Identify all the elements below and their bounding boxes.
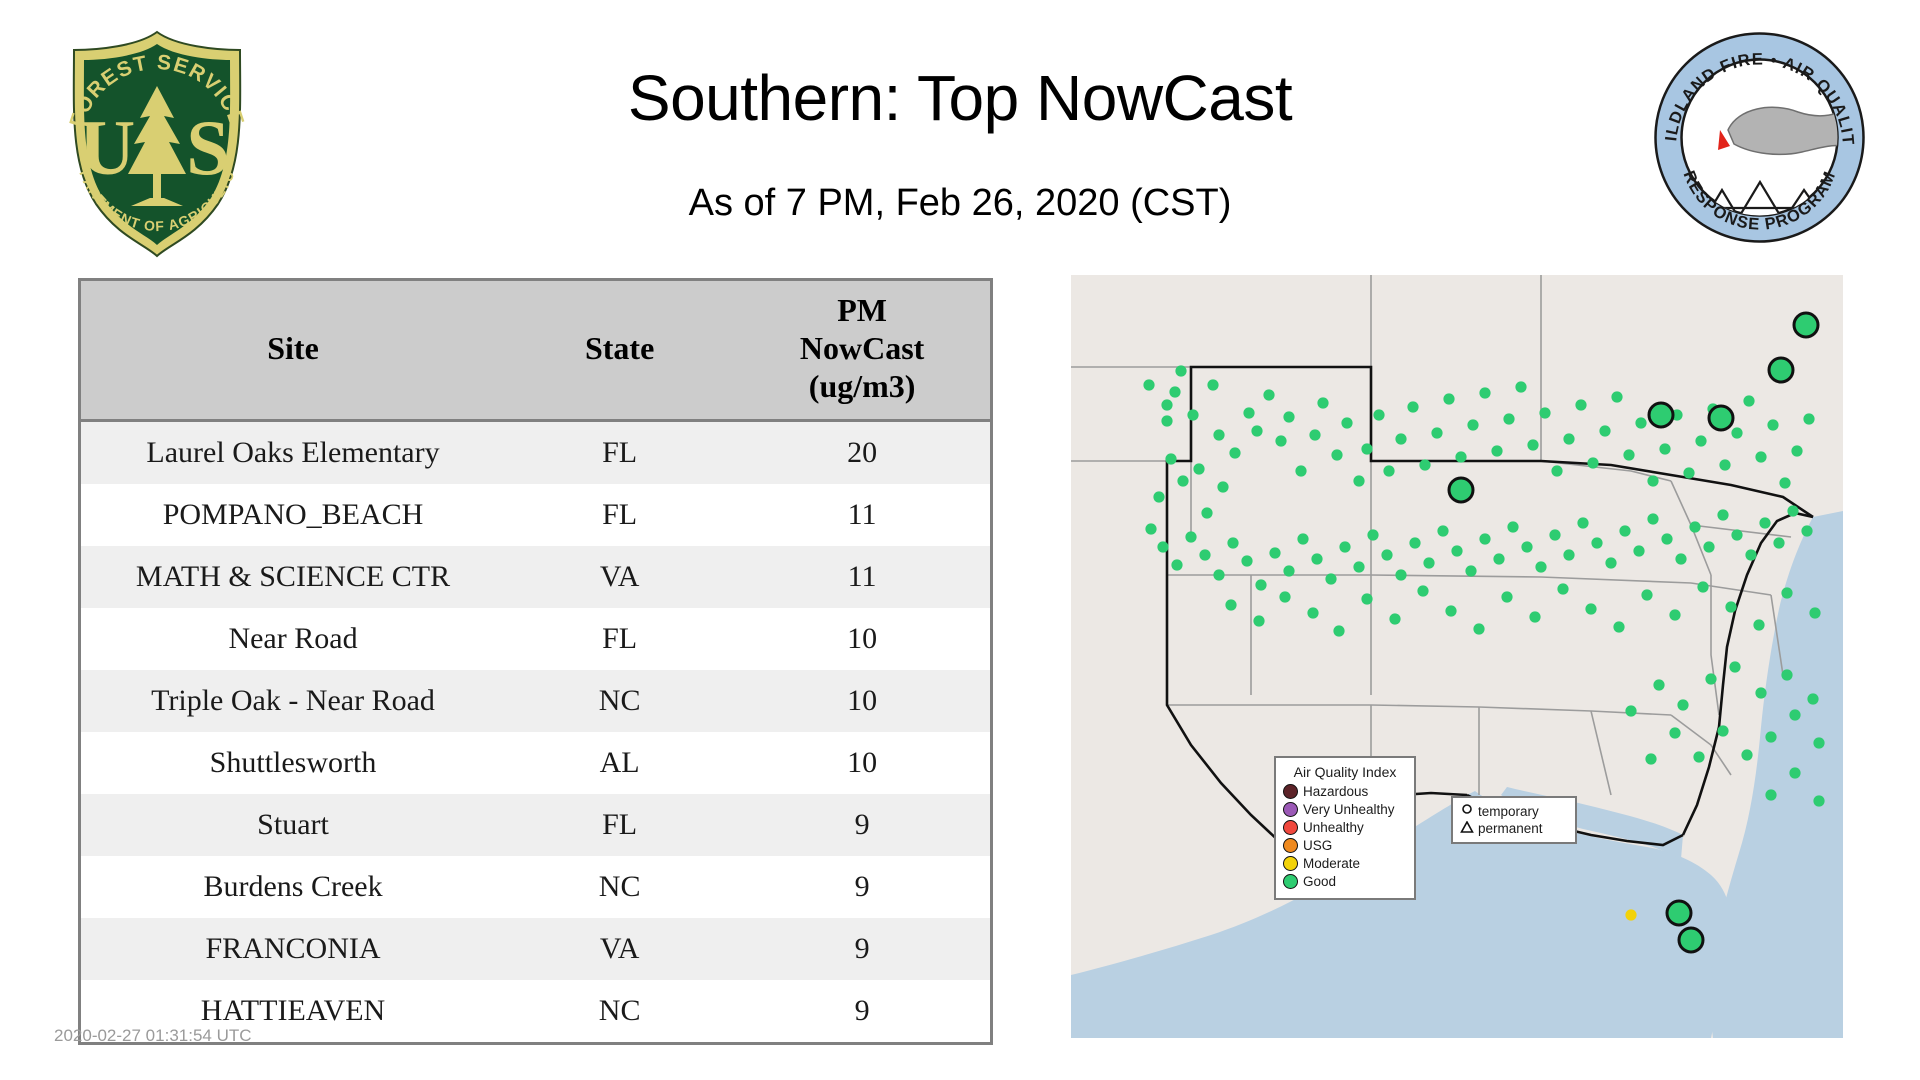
aqi-legend-label: Moderate <box>1303 855 1360 872</box>
cell-site: POMPANO_BEACH <box>80 484 506 546</box>
monitor-marker[interactable] <box>1193 463 1204 474</box>
monitor-marker[interactable] <box>1389 613 1400 624</box>
monitor-marker[interactable] <box>1587 457 1598 468</box>
monitor-marker[interactable] <box>1745 549 1756 560</box>
wfaqrp-program-logo: WILDLAND FIRE • AIR QUALITY RESPONSE PRO… <box>1652 30 1867 245</box>
aqi-legend-swatch-icon <box>1283 802 1298 817</box>
monitor-marker[interactable] <box>1373 409 1384 420</box>
monitor-marker[interactable] <box>1619 525 1630 536</box>
cell-pm-nowcast: 10 <box>734 670 991 732</box>
highlighted-monitor-marker[interactable] <box>1667 901 1691 925</box>
monitor-marker[interactable] <box>1529 611 1540 622</box>
cell-pm-nowcast: 20 <box>734 421 991 485</box>
page-title: Southern: Top NowCast <box>360 60 1560 136</box>
monitor-marker[interactable] <box>1431 427 1442 438</box>
temporary-site-circle-icon <box>1459 804 1475 819</box>
monitor-marker[interactable] <box>1753 619 1764 630</box>
column-header-pm-line2: NowCast <box>800 330 924 366</box>
aqi-legend-label: Good <box>1303 873 1336 890</box>
monitor-marker[interactable] <box>1591 537 1602 548</box>
table-row: Triple Oak - Near RoadNC10 <box>80 670 992 732</box>
monitor-marker[interactable] <box>1803 413 1814 424</box>
monitor-marker[interactable] <box>1625 909 1636 920</box>
monitor-marker[interactable] <box>1153 491 1164 502</box>
monitor-marker[interactable] <box>1539 407 1550 418</box>
table-row: Laurel Oaks ElementaryFL20 <box>80 421 992 485</box>
table-row: ShuttlesworthAL10 <box>80 732 992 794</box>
aqi-legend-item: Moderate <box>1283 855 1407 872</box>
monitor-marker[interactable] <box>1311 553 1322 564</box>
monitor-marker[interactable] <box>1659 443 1670 454</box>
column-header-state: State <box>505 280 734 421</box>
cell-pm-nowcast: 10 <box>734 608 991 670</box>
monitor-marker[interactable] <box>1625 705 1636 716</box>
cell-pm-nowcast: 11 <box>734 546 991 608</box>
monitor-marker[interactable] <box>1395 569 1406 580</box>
monitor-map[interactable]: Air Quality Index HazardousVery Unhealth… <box>1071 275 1843 1038</box>
monitor-marker[interactable] <box>1773 537 1784 548</box>
aqi-legend-title: Air Quality Index <box>1283 764 1407 780</box>
monitor-marker[interactable] <box>1283 565 1294 576</box>
monitor-marker[interactable] <box>1229 447 1240 458</box>
monitor-marker[interactable] <box>1705 673 1716 684</box>
site-type-legend-item-temporary: temporary <box>1459 803 1569 820</box>
monitor-marker[interactable] <box>1213 429 1224 440</box>
monitor-marker[interactable] <box>1297 533 1308 544</box>
monitor-marker[interactable] <box>1623 449 1634 460</box>
table-header-row: Site State PM NowCast (ug/m3) <box>80 280 992 421</box>
monitor-marker[interactable] <box>1689 521 1700 532</box>
cell-state: FL <box>505 484 734 546</box>
monitor-marker[interactable] <box>1611 391 1622 402</box>
site-type-legend-label-permanent: permanent <box>1478 820 1543 837</box>
monitor-marker[interactable] <box>1787 505 1798 516</box>
monitor-marker[interactable] <box>1647 475 1658 486</box>
monitor-marker[interactable] <box>1549 529 1560 540</box>
monitor-marker[interactable] <box>1361 593 1372 604</box>
monitor-marker[interactable] <box>1207 379 1218 390</box>
monitor-marker[interactable] <box>1807 693 1818 704</box>
aqi-legend-label: Unhealthy <box>1303 819 1364 836</box>
cell-pm-nowcast: 10 <box>734 732 991 794</box>
cell-site: Burdens Creek <box>80 856 506 918</box>
monitor-marker[interactable] <box>1503 413 1514 424</box>
monitor-marker[interactable] <box>1779 477 1790 488</box>
monitor-marker[interactable] <box>1647 513 1658 524</box>
usfs-letter-s: S <box>186 104 229 191</box>
monitor-marker[interactable] <box>1535 561 1546 572</box>
monitor-marker[interactable] <box>1791 445 1802 456</box>
monitor-marker[interactable] <box>1759 517 1770 528</box>
monitor-marker[interactable] <box>1755 687 1766 698</box>
monitor-marker[interactable] <box>1165 453 1176 464</box>
monitor-marker[interactable] <box>1309 429 1320 440</box>
monitor-marker[interactable] <box>1781 587 1792 598</box>
monitor-marker[interactable] <box>1725 601 1736 612</box>
aqi-legend-swatch-icon <box>1283 874 1298 889</box>
monitor-marker[interactable] <box>1269 547 1280 558</box>
monitor-marker[interactable] <box>1361 443 1372 454</box>
column-header-site: Site <box>80 280 506 421</box>
monitor-marker[interactable] <box>1653 679 1664 690</box>
monitor-marker[interactable] <box>1633 545 1644 556</box>
monitor-marker[interactable] <box>1765 789 1776 800</box>
monitor-marker[interactable] <box>1801 525 1812 536</box>
cell-state: AL <box>505 732 734 794</box>
monitor-marker[interactable] <box>1575 399 1586 410</box>
monitor-marker[interactable] <box>1467 419 1478 430</box>
monitor-marker[interactable] <box>1253 615 1264 626</box>
monitor-marker[interactable] <box>1331 449 1342 460</box>
site-type-legend-item-permanent: permanent <box>1459 820 1569 837</box>
top-nowcast-table-container: Site State PM NowCast (ug/m3) Laurel Oak… <box>78 278 993 1045</box>
monitor-marker[interactable] <box>1731 427 1742 438</box>
table-row: Burdens CreekNC9 <box>80 856 992 918</box>
monitor-marker[interactable] <box>1263 389 1274 400</box>
table-row: POMPANO_BEACHFL11 <box>80 484 992 546</box>
monitor-marker[interactable] <box>1339 541 1350 552</box>
monitor-marker[interactable] <box>1479 387 1490 398</box>
monitor-marker[interactable] <box>1161 415 1172 426</box>
monitor-marker[interactable] <box>1527 439 1538 450</box>
aqi-legend-item: USG <box>1283 837 1407 854</box>
monitor-marker[interactable] <box>1683 467 1694 478</box>
monitor-marker[interactable] <box>1241 555 1252 566</box>
monitor-marker[interactable] <box>1381 549 1392 560</box>
column-header-pm-nowcast: PM NowCast (ug/m3) <box>734 280 991 421</box>
monitor-marker[interactable] <box>1225 599 1236 610</box>
monitor-marker[interactable] <box>1251 425 1262 436</box>
monitor-marker[interactable] <box>1437 525 1448 536</box>
column-header-pm-line3: (ug/m3) <box>809 368 916 404</box>
monitor-marker[interactable] <box>1585 603 1596 614</box>
monitor-marker[interactable] <box>1171 559 1182 570</box>
usfs-shield-logo: FOREST SERVICE DEPARTMENT OF AGRICULTURE… <box>52 28 262 260</box>
monitor-marker[interactable] <box>1491 445 1502 456</box>
page-subtitle: As of 7 PM, Feb 26, 2020 (CST) <box>360 180 1560 226</box>
monitor-marker[interactable] <box>1755 451 1766 462</box>
monitor-marker[interactable] <box>1605 557 1616 568</box>
table-row: FRANCONIAVA9 <box>80 918 992 980</box>
monitor-marker[interactable] <box>1675 553 1686 564</box>
monitor-marker[interactable] <box>1641 589 1652 600</box>
monitor-marker[interactable] <box>1341 417 1352 428</box>
monitor-marker[interactable] <box>1353 475 1364 486</box>
table-row: MATH & SCIENCE CTRVA11 <box>80 546 992 608</box>
column-header-pm-line1: PM <box>837 292 887 328</box>
monitor-marker[interactable] <box>1367 529 1378 540</box>
monitor-marker[interactable] <box>1563 433 1574 444</box>
aqi-legend-label: USG <box>1303 837 1332 854</box>
monitor-marker[interactable] <box>1217 481 1228 492</box>
cell-state: NC <box>505 856 734 918</box>
monitor-marker[interactable] <box>1789 709 1800 720</box>
monitor-marker[interactable] <box>1161 399 1172 410</box>
monitor-marker[interactable] <box>1283 411 1294 422</box>
monitor-marker[interactable] <box>1661 533 1672 544</box>
monitor-marker[interactable] <box>1383 465 1394 476</box>
monitor-marker[interactable] <box>1455 451 1466 462</box>
monitor-marker[interactable] <box>1635 417 1646 428</box>
monitor-marker[interactable] <box>1781 669 1792 680</box>
monitor-marker[interactable] <box>1395 433 1406 444</box>
monitor-marker[interactable] <box>1185 531 1196 542</box>
cell-site: MATH & SCIENCE CTR <box>80 546 506 608</box>
aqi-legend-item: Very Unhealthy <box>1283 801 1407 818</box>
highlighted-monitor-marker[interactable] <box>1449 478 1473 502</box>
monitor-marker[interactable] <box>1333 625 1344 636</box>
monitor-marker[interactable] <box>1765 731 1776 742</box>
cell-site: Stuart <box>80 794 506 856</box>
aqi-legend-item: Good <box>1283 873 1407 890</box>
monitor-marker[interactable] <box>1417 585 1428 596</box>
monitor-marker[interactable] <box>1729 661 1740 672</box>
monitor-marker[interactable] <box>1255 579 1266 590</box>
table-header: Site State PM NowCast (ug/m3) <box>80 280 992 421</box>
monitor-marker[interactable] <box>1645 753 1656 764</box>
aqi-legend: Air Quality Index HazardousVery Unhealth… <box>1274 756 1416 900</box>
top-nowcast-table: Site State PM NowCast (ug/m3) Laurel Oak… <box>78 278 993 1045</box>
monitor-marker[interactable] <box>1145 523 1156 534</box>
monitor-marker[interactable] <box>1809 607 1820 618</box>
monitor-marker[interactable] <box>1577 517 1588 528</box>
monitor-marker[interactable] <box>1409 537 1420 548</box>
monitor-marker[interactable] <box>1419 459 1430 470</box>
aqi-legend-label: Hazardous <box>1303 783 1368 800</box>
aqi-legend-label: Very Unhealthy <box>1303 801 1395 818</box>
monitor-marker[interactable] <box>1157 541 1168 552</box>
monitor-marker[interactable] <box>1501 591 1512 602</box>
monitor-marker[interactable] <box>1741 749 1752 760</box>
cell-pm-nowcast: 9 <box>734 856 991 918</box>
monitor-marker[interactable] <box>1551 465 1562 476</box>
table-row: StuartFL9 <box>80 794 992 856</box>
monitor-marker[interactable] <box>1443 393 1454 404</box>
highlighted-monitor-marker[interactable] <box>1794 313 1818 337</box>
cell-state: FL <box>505 794 734 856</box>
monitor-marker[interactable] <box>1451 545 1462 556</box>
monitor-marker[interactable] <box>1227 537 1238 548</box>
site-type-legend: temporary permanent <box>1451 796 1577 844</box>
monitor-marker[interactable] <box>1507 521 1518 532</box>
aqi-legend-swatch-icon <box>1283 838 1298 853</box>
monitor-marker[interactable] <box>1445 605 1456 616</box>
aqi-legend-item: Hazardous <box>1283 783 1407 800</box>
monitor-marker[interactable] <box>1693 751 1704 762</box>
cell-pm-nowcast: 9 <box>734 918 991 980</box>
cell-state: NC <box>505 670 734 732</box>
highlighted-monitor-marker[interactable] <box>1709 406 1733 430</box>
monitor-marker[interactable] <box>1143 379 1154 390</box>
monitor-marker[interactable] <box>1695 435 1706 446</box>
monitor-marker[interactable] <box>1353 561 1364 572</box>
monitor-marker[interactable] <box>1563 549 1574 560</box>
monitor-marker[interactable] <box>1465 565 1476 576</box>
cell-state: VA <box>505 546 734 608</box>
generation-timestamp: 2020-02-27 01:31:54 UTC <box>54 1026 252 1046</box>
monitor-marker[interactable] <box>1243 407 1254 418</box>
cell-pm-nowcast: 11 <box>734 484 991 546</box>
monitor-marker[interactable] <box>1317 397 1328 408</box>
monitor-marker[interactable] <box>1407 401 1418 412</box>
aqi-legend-rows: HazardousVery UnhealthyUnhealthyUSGModer… <box>1283 783 1407 890</box>
monitor-marker[interactable] <box>1813 795 1824 806</box>
monitor-marker[interactable] <box>1521 541 1532 552</box>
monitor-marker[interactable] <box>1275 435 1286 446</box>
table-row: Near RoadFL10 <box>80 608 992 670</box>
monitor-marker[interactable] <box>1175 365 1186 376</box>
cell-site: FRANCONIA <box>80 918 506 980</box>
cell-site: Near Road <box>80 608 506 670</box>
monitor-marker[interactable] <box>1201 507 1212 518</box>
aqi-legend-swatch-icon <box>1283 820 1298 835</box>
monitor-marker[interactable] <box>1213 569 1224 580</box>
monitor-marker[interactable] <box>1677 699 1688 710</box>
highlighted-monitor-marker[interactable] <box>1649 403 1673 427</box>
monitor-marker[interactable] <box>1669 727 1680 738</box>
monitor-marker[interactable] <box>1813 737 1824 748</box>
monitor-marker[interactable] <box>1279 591 1290 602</box>
monitor-marker[interactable] <box>1199 549 1210 560</box>
monitor-marker[interactable] <box>1479 533 1490 544</box>
cell-state: NC <box>505 980 734 1044</box>
monitor-marker[interactable] <box>1703 541 1714 552</box>
monitor-marker[interactable] <box>1669 609 1680 620</box>
aqi-legend-swatch-icon <box>1283 784 1298 799</box>
permanent-site-triangle-icon <box>1459 821 1475 836</box>
monitor-marker[interactable] <box>1767 419 1778 430</box>
cell-pm-nowcast: 9 <box>734 794 991 856</box>
monitor-marker[interactable] <box>1307 607 1318 618</box>
monitor-marker[interactable] <box>1557 583 1568 594</box>
monitor-marker[interactable] <box>1697 581 1708 592</box>
monitor-marker[interactable] <box>1613 621 1624 632</box>
usfs-letter-u: U <box>79 104 135 191</box>
cell-state: FL <box>505 421 734 485</box>
aqi-legend-item: Unhealthy <box>1283 819 1407 836</box>
cell-state: FL <box>505 608 734 670</box>
highlighted-monitor-marker[interactable] <box>1769 358 1793 382</box>
cell-site: Shuttlesworth <box>80 732 506 794</box>
monitor-marker[interactable] <box>1515 381 1526 392</box>
highlighted-monitor-marker[interactable] <box>1679 928 1703 952</box>
cell-site: Laurel Oaks Elementary <box>80 421 506 485</box>
monitor-marker[interactable] <box>1743 395 1754 406</box>
cell-state: VA <box>505 918 734 980</box>
monitor-marker[interactable] <box>1719 459 1730 470</box>
monitor-marker[interactable] <box>1423 557 1434 568</box>
monitor-marker[interactable] <box>1187 409 1198 420</box>
monitor-marker[interactable] <box>1493 553 1504 564</box>
monitor-marker[interactable] <box>1473 623 1484 634</box>
monitor-marker[interactable] <box>1169 386 1180 397</box>
monitor-marker[interactable] <box>1789 767 1800 778</box>
table-body: Laurel Oaks ElementaryFL20POMPANO_BEACHF… <box>80 421 992 1044</box>
aqi-legend-swatch-icon <box>1283 856 1298 871</box>
site-type-legend-label-temporary: temporary <box>1478 803 1539 820</box>
monitor-marker[interactable] <box>1325 573 1336 584</box>
monitor-marker[interactable] <box>1295 465 1306 476</box>
cell-site: Triple Oak - Near Road <box>80 670 506 732</box>
monitor-marker[interactable] <box>1717 725 1728 736</box>
cell-pm-nowcast: 9 <box>734 980 991 1044</box>
monitor-marker[interactable] <box>1731 529 1742 540</box>
monitor-marker[interactable] <box>1177 475 1188 486</box>
monitor-marker[interactable] <box>1599 425 1610 436</box>
monitor-marker[interactable] <box>1717 509 1728 520</box>
